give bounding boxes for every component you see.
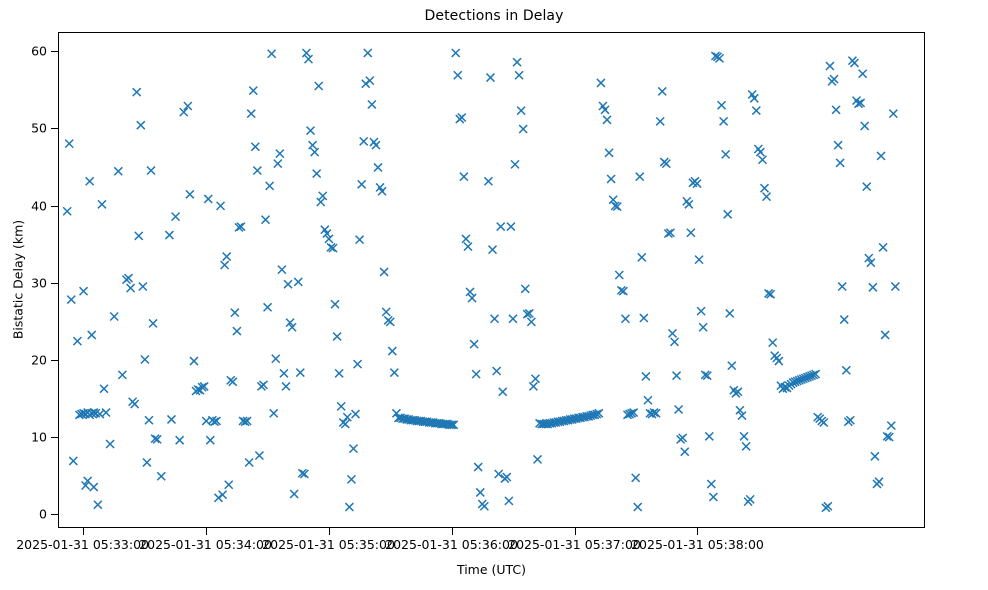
x-tick-label: 2025-01-31 05:33:00 (16, 537, 149, 552)
scatter-point (176, 436, 184, 444)
scatter-point (889, 110, 897, 118)
scatter-point (333, 332, 341, 340)
scatter-point (668, 329, 676, 337)
scatter-point (221, 261, 229, 269)
scatter-point (262, 216, 270, 224)
scatter-point (167, 415, 175, 423)
scatter-point (253, 167, 261, 175)
matplotlib-figure: Detections in Delay Bistatic Delay (km) … (0, 0, 988, 590)
scatter-point (681, 448, 689, 456)
scatter-point (366, 77, 374, 85)
scatter-point (317, 198, 325, 206)
scatter-point (840, 316, 848, 324)
scatter-point (697, 307, 705, 315)
scatter-point (67, 296, 75, 304)
x-tick-label: 2025-01-31 05:34:00 (139, 537, 272, 552)
scatter-point (280, 369, 288, 377)
scatter-point (621, 315, 629, 323)
scatter-point (282, 382, 290, 390)
scatter-point (368, 100, 376, 108)
scatter-point (347, 475, 355, 483)
scatter-point (364, 49, 372, 57)
scatter-point (204, 195, 212, 203)
scatter-point (141, 356, 149, 364)
scatter-point (315, 82, 323, 90)
scatter-point (863, 183, 871, 191)
scatter-point (486, 74, 494, 82)
scatter-point (634, 503, 642, 511)
scatter-point (850, 59, 858, 67)
scatter-point (673, 372, 681, 380)
scatter-point (143, 458, 151, 466)
scatter-point (472, 370, 480, 378)
scatter-point (495, 470, 503, 478)
scatter-point (268, 50, 276, 58)
scatter-point (597, 79, 605, 87)
scatter-point (718, 101, 726, 109)
scatter-point (290, 490, 298, 498)
scatter-point (877, 152, 885, 160)
scatter-point (311, 148, 319, 156)
x-tick-mark (452, 528, 453, 535)
scatter-point (466, 288, 474, 296)
scatter-point (722, 150, 730, 158)
scatter-point (527, 318, 535, 326)
scatter-point (284, 280, 292, 288)
plot-area (58, 32, 925, 528)
scatter-point (632, 474, 640, 482)
x-tick-mark (697, 528, 698, 535)
scatter-point (249, 87, 257, 95)
scatter-point (740, 432, 748, 440)
scatter-point (869, 283, 877, 291)
scatter-point (454, 71, 462, 79)
scatter-point (382, 308, 390, 316)
scatter-point (763, 193, 771, 201)
scatter-point (462, 235, 470, 243)
scatter-point (352, 410, 360, 418)
scatter-point (296, 369, 304, 377)
scatter-point (88, 331, 96, 339)
scatter-point (380, 268, 388, 276)
scatter-point (331, 300, 339, 308)
scatter-point (758, 156, 766, 164)
scatter-point (149, 319, 157, 327)
scatter-point (294, 278, 302, 286)
scatter-point (302, 49, 310, 57)
y-tick-mark (51, 360, 58, 361)
scatter-point (826, 62, 834, 70)
scatter-point (875, 478, 883, 486)
scatter-point (90, 483, 98, 491)
scatter-point (519, 125, 527, 133)
scatter-point (98, 200, 106, 208)
scatter-point (505, 497, 513, 505)
scatter-point (307, 127, 315, 135)
scatter-point (720, 117, 728, 125)
scatter-point (699, 323, 707, 331)
scatter-point (484, 177, 492, 185)
scatter-point (73, 337, 81, 345)
scatter-point (499, 388, 507, 396)
scatter-point (607, 175, 615, 183)
scatter-point (675, 405, 683, 413)
scatter-point (225, 481, 233, 489)
scatter-point (838, 283, 846, 291)
scatter-point (217, 202, 225, 210)
scatter-point (836, 159, 844, 167)
scatter-point (887, 422, 895, 430)
scatter-point (834, 141, 842, 149)
scatter-point (879, 243, 887, 251)
scatter-point (231, 309, 239, 317)
scatter-point (165, 231, 173, 239)
scatter-point (266, 182, 274, 190)
scatter-point (638, 253, 646, 261)
x-tick-mark (575, 528, 576, 535)
scatter-point (521, 285, 529, 293)
scatter-point (251, 143, 259, 151)
scatter-point (497, 223, 505, 231)
scatter-point (343, 413, 351, 421)
scatter-point (390, 369, 398, 377)
scatter-point (157, 472, 165, 480)
scatter-point (769, 339, 777, 347)
scatter-point (891, 283, 899, 291)
scatter-point (509, 315, 517, 323)
page-title: Detections in Delay (0, 8, 988, 24)
x-tick-mark-group (58, 528, 925, 536)
scatter-point (489, 246, 497, 254)
scatter-point (206, 436, 214, 444)
scatter-point (374, 163, 382, 171)
scatter-point (345, 503, 353, 511)
scatter-point (642, 372, 650, 380)
scatter-point (644, 396, 652, 404)
scatter-point (86, 177, 94, 185)
x-tick-label: 2025-01-31 05:37:00 (508, 537, 641, 552)
x-tick-label: 2025-01-31 05:36:00 (385, 537, 518, 552)
scatter-point (137, 121, 145, 129)
scatter-point (746, 495, 754, 503)
scatter-point (468, 294, 476, 302)
scatter-point (172, 213, 180, 221)
scatter-point (460, 173, 468, 181)
scatter-point (470, 340, 478, 348)
scatter-point (687, 229, 695, 237)
x-tick-label: 2025-01-31 05:35:00 (262, 537, 395, 552)
scatter-point (658, 87, 666, 95)
scatter-point (309, 141, 317, 149)
scatter-point (304, 55, 312, 63)
scatter-point (313, 170, 321, 178)
scatter-point (761, 184, 769, 192)
scatter-point (605, 149, 613, 157)
scatter-point (223, 253, 231, 261)
scatter-point (360, 137, 368, 145)
scatter-point (356, 236, 364, 244)
scatter-point (135, 232, 143, 240)
y-tick-mark (51, 206, 58, 207)
scatter-point (110, 313, 118, 321)
scatter-point (695, 256, 703, 264)
y-tick-mark-group (0, 32, 58, 528)
scatter-point (515, 71, 523, 79)
scatter-point (106, 440, 114, 448)
scatter-point (724, 210, 732, 218)
scatter-point (507, 223, 515, 231)
scatter-point (102, 409, 110, 417)
x-tick-mark (329, 528, 330, 535)
scatter-point (219, 491, 227, 499)
scatter-point (94, 501, 102, 509)
scatter-point (270, 409, 278, 417)
y-tick-mark (51, 283, 58, 284)
scatter-point (186, 190, 194, 198)
scatter-point (742, 442, 750, 450)
scatter-point (335, 369, 343, 377)
scatter-point (464, 243, 472, 251)
scatter-point (133, 88, 141, 96)
scatter-point (513, 58, 521, 66)
scatter-point (278, 266, 286, 274)
scatter-point (190, 357, 198, 365)
scatter-point (480, 502, 488, 510)
scatter-point (388, 347, 396, 355)
scatter-point (139, 283, 147, 291)
scatter-series-detections (63, 49, 899, 512)
scatter-point (474, 463, 482, 471)
scatter-point (65, 140, 73, 148)
scatter-point (756, 148, 764, 156)
scatter-point (264, 303, 272, 311)
scatter-point (615, 271, 623, 279)
scatter-point (476, 488, 484, 496)
x-axis-label: Time (UTC) (58, 562, 925, 577)
scatter-point (656, 117, 664, 125)
scatter-point (640, 314, 648, 322)
scatter-point (118, 371, 126, 379)
scatter-point (859, 70, 867, 78)
scatter-point (861, 122, 869, 130)
x-tick-mark (83, 528, 84, 535)
scatter-point (274, 160, 282, 168)
scatter-point (114, 167, 122, 175)
scatter-point (276, 150, 284, 158)
scatter-point (69, 457, 77, 465)
scatter-point (245, 458, 253, 466)
scatter-point (517, 107, 525, 115)
scatter-point (871, 452, 879, 460)
scatter-point (493, 367, 501, 375)
scatter-point (709, 493, 717, 501)
scatter-point (685, 200, 693, 208)
scatter-point (145, 416, 153, 424)
scatter-point (830, 75, 838, 83)
y-tick-mark (51, 514, 58, 515)
scatter-point (319, 192, 327, 200)
scatter-point (603, 116, 611, 124)
x-tick-mark (206, 528, 207, 535)
scatter-point (531, 375, 539, 383)
scatter-point (100, 385, 108, 393)
scatter-point (337, 402, 345, 410)
scatter-point (881, 331, 889, 339)
scatter-point (726, 309, 734, 317)
x-tick-label-group: 2025-01-31 05:33:002025-01-31 05:34:0020… (58, 537, 925, 557)
scatter-point (354, 360, 362, 368)
scatter-point (609, 196, 617, 204)
scatter-point (372, 141, 380, 149)
y-tick-mark (51, 51, 58, 52)
scatter-point (131, 400, 139, 408)
scatter-point (452, 49, 460, 57)
scatter-point (127, 284, 135, 292)
scatter-point (775, 357, 783, 365)
scatter-point (63, 207, 71, 215)
y-tick-mark (51, 437, 58, 438)
scatter-point (529, 382, 537, 390)
scatter-point (842, 366, 850, 374)
scatter-point (272, 355, 280, 363)
scatter-point (534, 455, 542, 463)
scatter-point (247, 110, 255, 118)
scatter-point (636, 173, 644, 181)
scatter-point (511, 160, 519, 168)
scatter-point (233, 327, 241, 335)
scatter-point (705, 432, 713, 440)
scatter-point (728, 362, 736, 370)
x-tick-label: 2025-01-31 05:38:00 (631, 537, 764, 552)
scatter-point (752, 107, 760, 115)
scatter-point (707, 480, 715, 488)
scatter-point (80, 287, 88, 295)
y-tick-mark (51, 128, 58, 129)
scatter-point (491, 315, 499, 323)
scatter-canvas (59, 33, 924, 527)
scatter-point (358, 180, 366, 188)
scatter-point (147, 167, 155, 175)
scatter-point (832, 106, 840, 114)
scatter-point (671, 338, 679, 346)
scatter-point (349, 445, 357, 453)
scatter-point (255, 452, 263, 460)
